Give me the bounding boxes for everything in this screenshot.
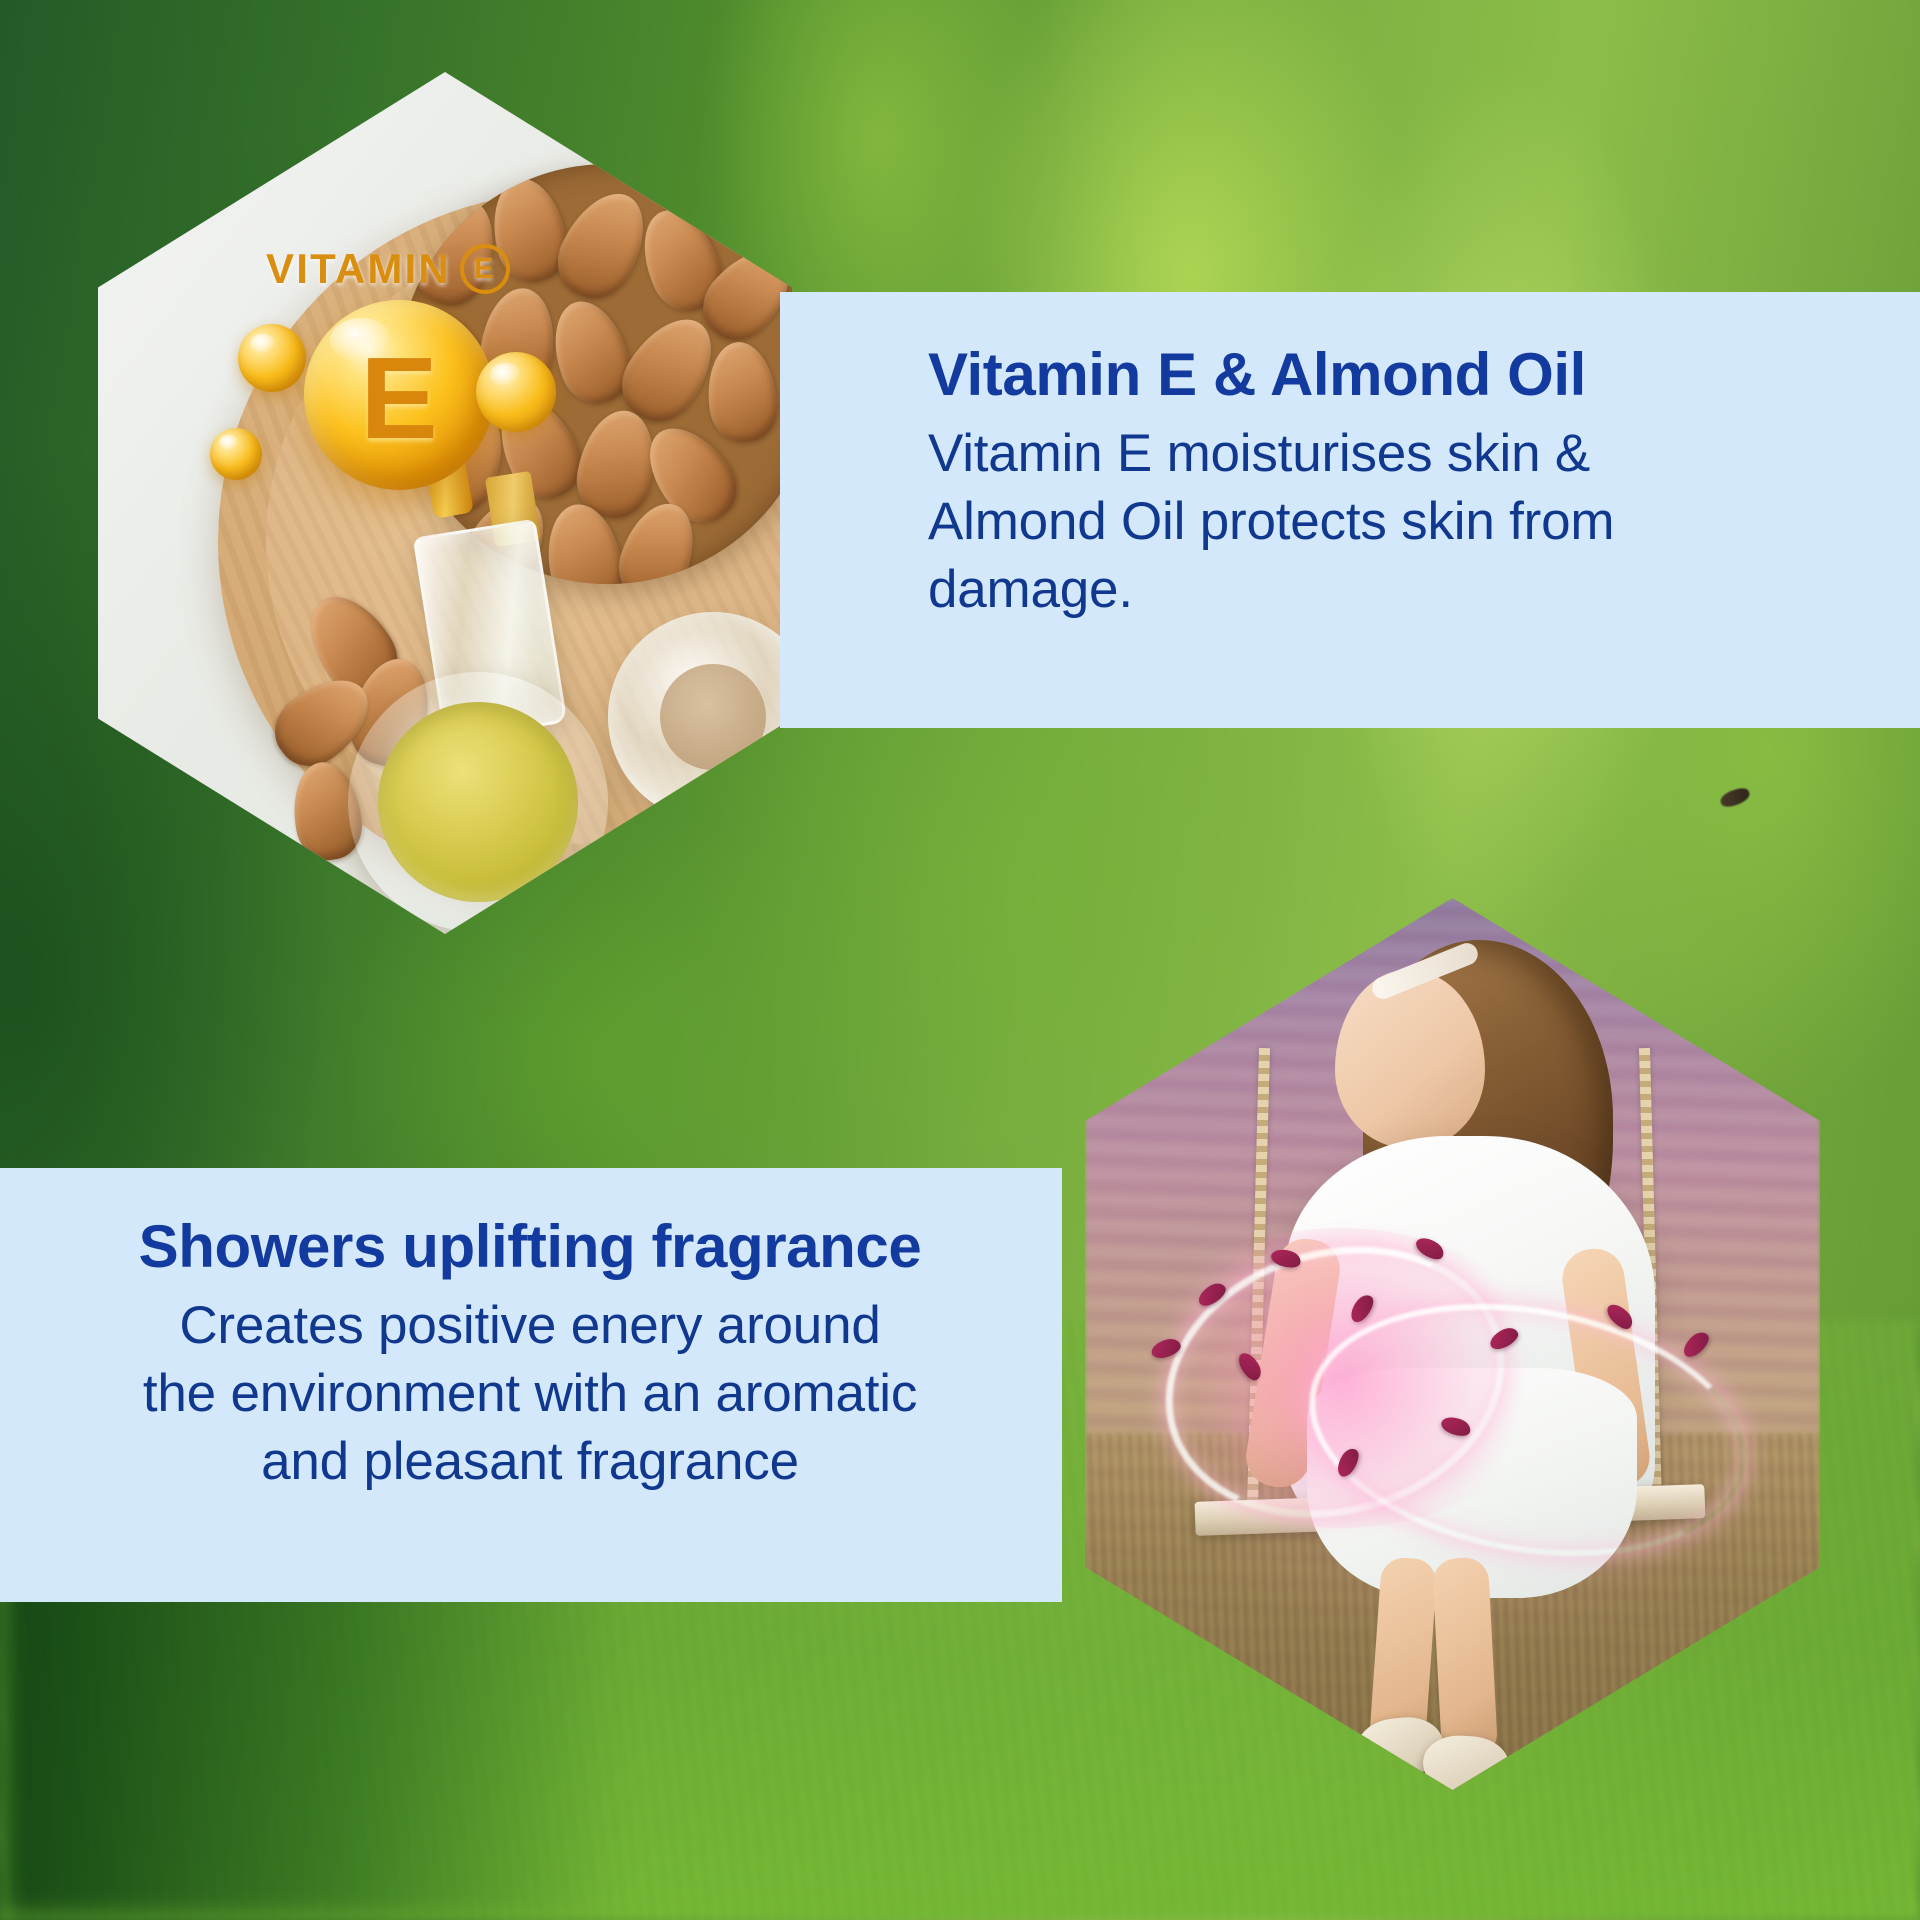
fragrance-text-panel: Showers uplifting fragrance Creates posi…: [0, 1168, 1062, 1602]
marketing-banner: VITAMIN E E: [0, 0, 1920, 1920]
panel-top-body-line: damage.: [928, 556, 1862, 624]
panel-bottom-body-line: and pleasant fragrance: [32, 1428, 1028, 1496]
vitamin-e-ring-icon: E: [460, 244, 510, 294]
oil-droplet-small: [210, 428, 262, 480]
oil-droplet-small: [238, 324, 306, 392]
vitamin-e-text-panel: Vitamin E & Almond Oil Vitamin E moistur…: [780, 292, 1920, 728]
panel-top-body: Vitamin E moisturises skin & Almond Oil …: [928, 420, 1862, 623]
panel-top-body-line: Almond Oil protects skin from: [928, 488, 1862, 556]
vitamin-e-label: VITAMIN E: [266, 244, 510, 294]
droplet-letter: E: [304, 300, 494, 490]
vitamin-e-droplet: E: [304, 300, 494, 490]
girl-leg-right: [1432, 1557, 1498, 1760]
panel-bottom-body-line: Creates positive enery around: [32, 1292, 1028, 1360]
panel-bottom-body: Creates positive enery around the enviro…: [32, 1292, 1028, 1495]
panel-bottom-body-line: the environment with an aromatic: [32, 1360, 1028, 1428]
oil-droplet-small: [476, 352, 556, 432]
vitamin-word: VITAMIN: [266, 245, 451, 293]
panel-top-title: Vitamin E & Almond Oil: [928, 342, 1862, 408]
panel-top-body-line: Vitamin E moisturises skin &: [928, 420, 1862, 488]
panel-bottom-title: Showers uplifting fragrance: [32, 1214, 1028, 1280]
